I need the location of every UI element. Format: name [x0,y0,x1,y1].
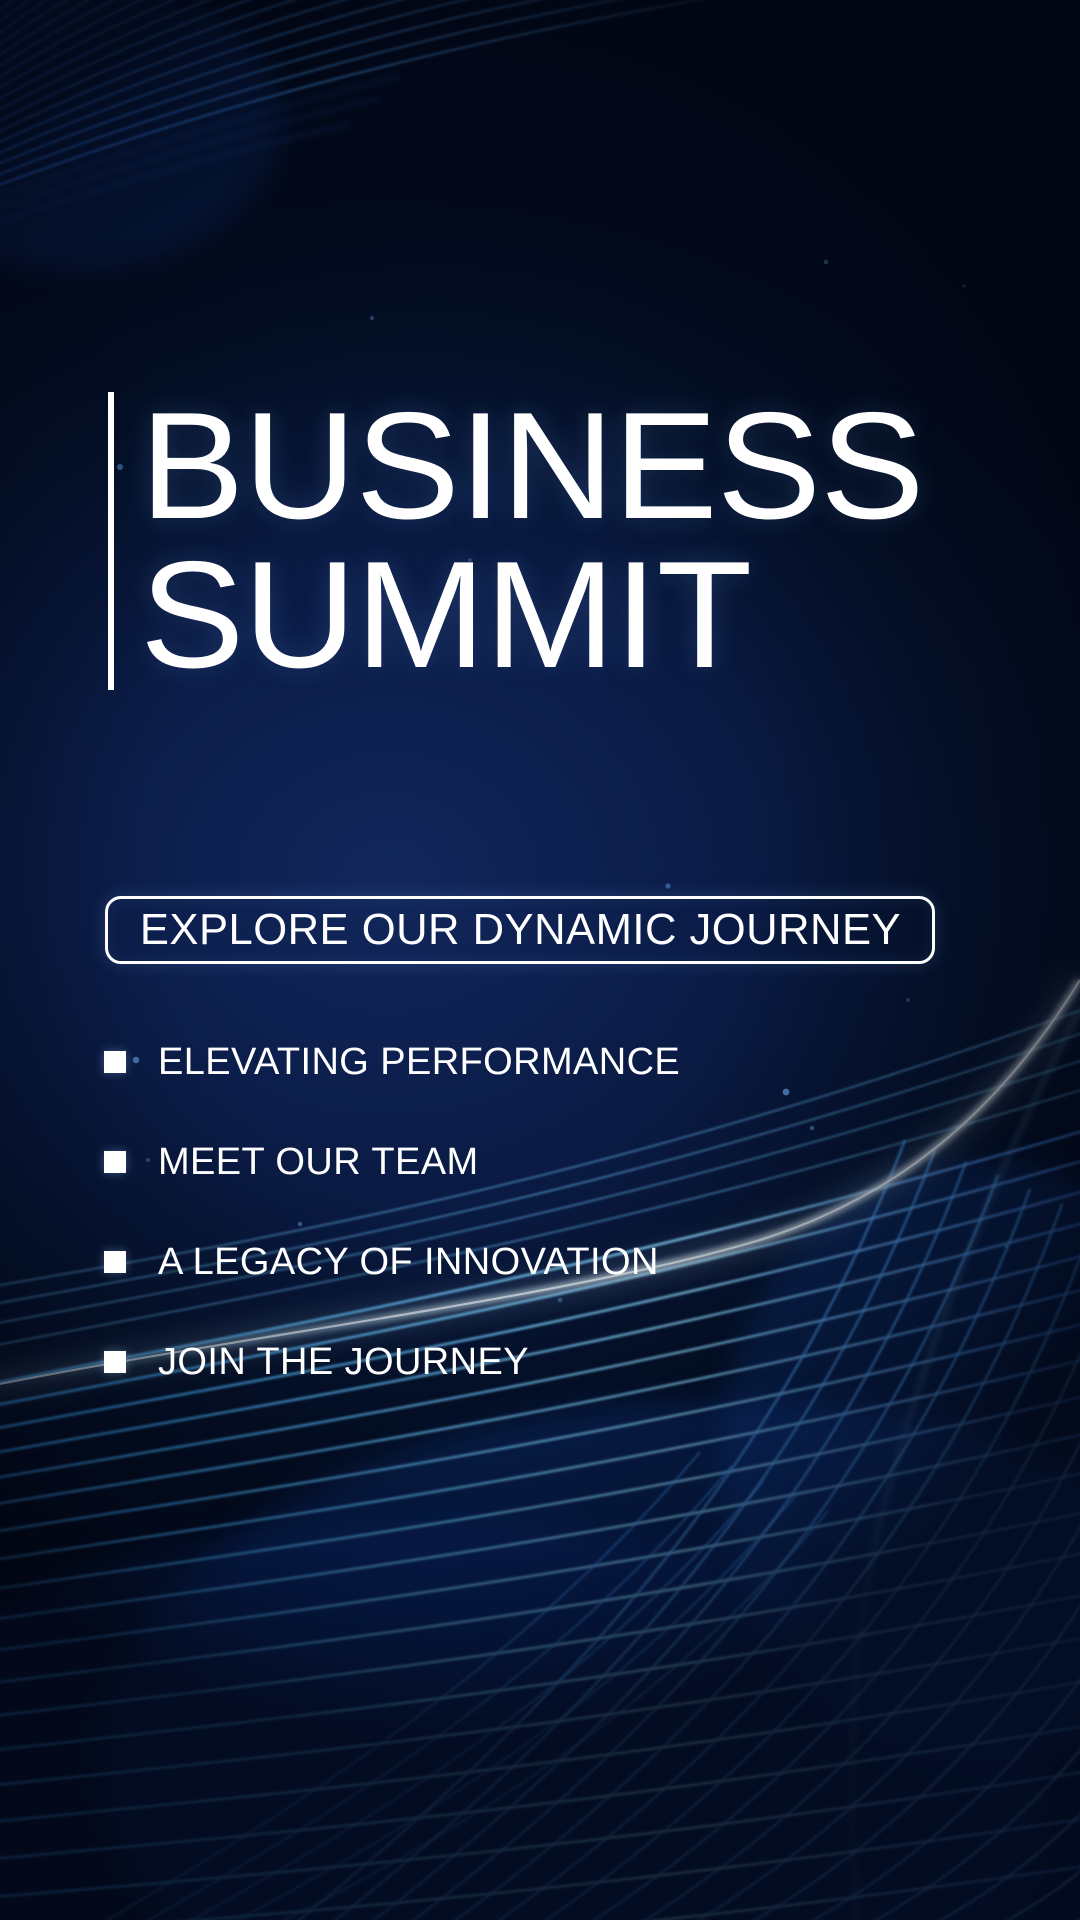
explore-journey-button[interactable]: EXPLORE OUR DYNAMIC JOURNEY [105,896,935,964]
title-line-1: BUSINESS [140,392,924,541]
list-item[interactable]: JOIN THE JOURNEY [104,1312,864,1412]
list-item-label: A LEGACY OF INNOVATION [158,1241,659,1284]
list-item-label: ELEVATING PERFORMANCE [158,1041,680,1084]
title-accent-bar [108,392,114,690]
square-bullet-icon [104,1051,126,1073]
explore-journey-button-label: EXPLORE OUR DYNAMIC JOURNEY [139,905,900,955]
square-bullet-icon [104,1351,126,1373]
list-item[interactable]: MEET OUR TEAM [104,1112,864,1212]
page-title: BUSINESS SUMMIT [108,392,901,690]
square-bullet-icon [104,1151,126,1173]
list-item[interactable]: ELEVATING PERFORMANCE [104,1012,864,1112]
list-item-label: JOIN THE JOURNEY [158,1341,529,1384]
list-item-label: MEET OUR TEAM [158,1141,479,1184]
poster-content: BUSINESS SUMMIT EXPLORE OUR DYNAMIC JOUR… [0,0,1080,1920]
agenda-list: ELEVATING PERFORMANCE MEET OUR TEAM A LE… [104,1012,864,1412]
square-bullet-icon [104,1251,126,1273]
list-item[interactable]: A LEGACY OF INNOVATION [104,1212,864,1312]
title-text-group: BUSINESS SUMMIT [140,392,901,690]
poster-canvas: BUSINESS SUMMIT EXPLORE OUR DYNAMIC JOUR… [0,0,1080,1920]
title-line-2: SUMMIT [140,541,924,690]
